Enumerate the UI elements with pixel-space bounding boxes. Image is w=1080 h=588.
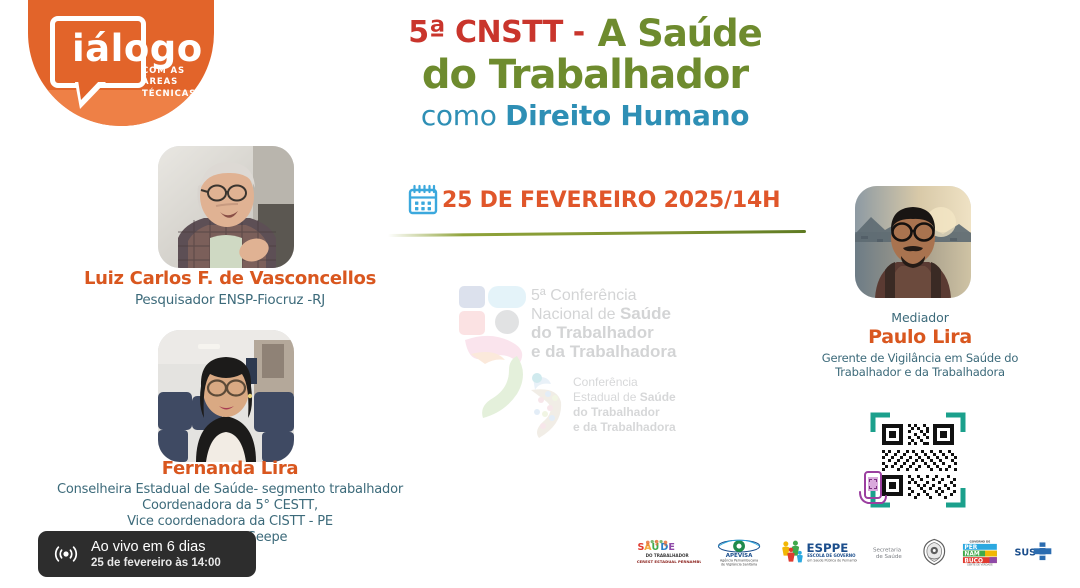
svg-text:do Trabalhador: do Trabalhador bbox=[531, 323, 654, 342]
logo-subtitle: COM AS ÁREAS TÉCNICAS bbox=[142, 66, 214, 100]
speaker-photo-paulo-lira bbox=[855, 186, 971, 298]
live-badge-primary: Ao vivo em 6 dias bbox=[91, 538, 221, 556]
svg-text:PER: PER bbox=[965, 545, 978, 551]
sponsor-logo-saude-do-trabalhador: S A Ú D E DO TRABALHADOR CEREST ESTADUAL… bbox=[636, 533, 701, 571]
video-player-frame: iálogo COM AS ÁREAS TÉCNICAS 5ª CNSTT - … bbox=[0, 0, 1080, 588]
svg-text:Nacional de Saúde: Nacional de Saúde bbox=[531, 304, 671, 323]
svg-text:SUS: SUS bbox=[1015, 548, 1037, 559]
speaker-name: Paulo Lira bbox=[790, 326, 1050, 348]
live-badge-secondary: 25 de fevereiro às 14:00 bbox=[91, 556, 221, 570]
svg-text:CEREST ESTADUAL PERNAMBUCO: CEREST ESTADUAL PERNAMBUCO bbox=[637, 559, 701, 564]
title-line-3: como Direito Humano bbox=[360, 98, 810, 133]
speaker-name: Fernanda Lira bbox=[15, 458, 445, 479]
speaker-photo-fernanda-lira bbox=[158, 330, 294, 462]
title-line-3-bold: Direito Humano bbox=[505, 99, 749, 132]
svg-text:em Saúde Pública de Pernambuco: em Saúde Pública de Pernambuco bbox=[807, 559, 856, 563]
sponsor-logo-governo-pernambuco: GOVERNO DE PER NAM BUCO GENTE DE VERDADE bbox=[960, 533, 1000, 571]
svg-text:DO TRABALHADOR: DO TRABALHADOR bbox=[646, 553, 690, 558]
svg-text:GOVERNO DE: GOVERNO DE bbox=[970, 539, 991, 543]
svg-text:GENTE DE VERDADE: GENTE DE VERDADE bbox=[967, 563, 993, 567]
title-prefix: 5ª CNSTT - bbox=[408, 15, 584, 50]
logo-subtitle-line2: TÉCNICAS bbox=[142, 89, 214, 100]
speaker-role: Gerente de Vigilância em Saúde do Trabal… bbox=[790, 351, 1050, 379]
broadcast-icon bbox=[54, 542, 78, 566]
dialogo-logo-badge: iálogo COM AS ÁREAS TÉCNICAS bbox=[28, 0, 214, 126]
logo-wordmark: iálogo bbox=[72, 30, 203, 67]
speaker-role: Pesquisador ENSP-Fiocruz -RJ bbox=[30, 292, 430, 308]
live-badge-text: Ao vivo em 6 dias 25 de fevereiro às 14:… bbox=[91, 538, 221, 571]
speech-bubble-tail bbox=[75, 82, 106, 109]
speaker-kicker: Mediador bbox=[790, 310, 1050, 325]
conference-watermark-logo: 5ª Conferência Nacional de Saúde do Trab… bbox=[455, 278, 720, 453]
sponsor-logo-sus: SUS bbox=[1013, 536, 1056, 568]
sponsor-logo-brasao-pernambuco bbox=[921, 533, 948, 571]
speaker-name: Luiz Carlos F. de Vasconcellos bbox=[30, 268, 430, 289]
sponsor-logo-esppe: ESPPE ESCOLA DE GOVERNO em Saúde Pública… bbox=[777, 535, 857, 569]
title-line-3-light: como bbox=[421, 99, 505, 132]
svg-text:do Trabalhador: do Trabalhador bbox=[573, 405, 660, 419]
title-line-1: 5ª CNSTT - A Saúde bbox=[360, 14, 810, 53]
svg-text:Estadual de Saúde: Estadual de Saúde bbox=[573, 390, 676, 404]
sponsor-logo-strip: S A Ú D E DO TRABALHADOR CEREST ESTADUAL… bbox=[636, 530, 1056, 574]
sponsor-logo-secretaria-de-saude: Secretaria de Saúde bbox=[870, 537, 908, 567]
svg-text:de Vigilância Sanitária: de Vigilância Sanitária bbox=[721, 562, 757, 566]
svg-text:e da Trabalhadora: e da Trabalhadora bbox=[531, 342, 677, 361]
svg-text:Secretaria: Secretaria bbox=[873, 547, 901, 553]
svg-text:Conferência: Conferência bbox=[573, 375, 638, 389]
live-status-badge[interactable]: Ao vivo em 6 dias 25 de fevereiro às 14:… bbox=[38, 531, 256, 577]
event-date-text: 25 DE FEVEREIRO 2025/14H bbox=[442, 188, 780, 213]
title-main-1: A Saúde bbox=[598, 12, 762, 55]
date-divider bbox=[388, 230, 806, 237]
speaker-info-luiz-carlos: Luiz Carlos F. de Vasconcellos Pesquisad… bbox=[30, 268, 430, 308]
speaker-info-paulo-lira: Mediador Paulo Lira Gerente de Vigilânci… bbox=[790, 310, 1050, 379]
svg-text:de Saúde: de Saúde bbox=[875, 553, 902, 560]
calendar-icon bbox=[406, 183, 440, 217]
sponsor-logo-apevisa: APEVISA Agência Pernambucana de Vigilânc… bbox=[714, 533, 764, 571]
svg-text:5ª Conferência: 5ª Conferência bbox=[531, 287, 637, 304]
event-title: 5ª CNSTT - A Saúde do Trabalhador como D… bbox=[360, 14, 810, 133]
title-line-2: do Trabalhador bbox=[360, 53, 810, 98]
svg-text:e da Trabalhadora: e da Trabalhadora bbox=[573, 420, 676, 434]
svg-text:ESCOLA DE GOVERNO: ESCOLA DE GOVERNO bbox=[807, 553, 856, 558]
event-date-row: 25 DE FEVEREIRO 2025/14H bbox=[406, 183, 780, 217]
svg-text:E: E bbox=[668, 542, 675, 553]
svg-text:NAM: NAM bbox=[965, 552, 980, 558]
scan-phone-icon bbox=[858, 470, 888, 504]
conference-logo-mark bbox=[459, 286, 526, 418]
speaker-photo-luiz-carlos bbox=[158, 146, 294, 268]
logo-subtitle-line1: COM AS ÁREAS bbox=[142, 66, 214, 89]
